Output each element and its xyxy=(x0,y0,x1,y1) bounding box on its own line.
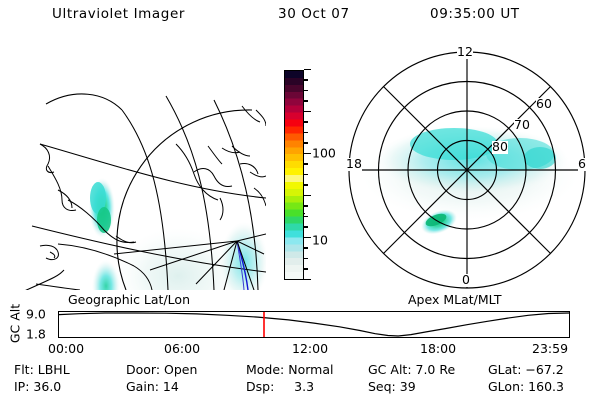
colorbar: photon cm-2s-1 10010 xyxy=(266,48,344,292)
polar-emission-layer xyxy=(362,126,578,239)
observation-date: 30 Oct 07 xyxy=(278,6,350,22)
colorbar-label-10: 10 xyxy=(312,233,328,248)
status-filter: Flt: LBHL xyxy=(14,362,70,377)
status-gain: Gain: 14 xyxy=(126,379,179,394)
colorbar-ticks xyxy=(304,70,312,280)
gc-alt-axis-label: GC Alt xyxy=(8,295,23,353)
mlt-spokes xyxy=(349,52,585,288)
orbit-plot-svg xyxy=(59,312,569,337)
observation-time: 09:35:00 UT xyxy=(430,6,520,22)
status-gc-alt: GC Alt: 7.0 Re xyxy=(368,362,455,377)
mlt-label-6: 6 xyxy=(578,158,586,171)
status-dsp: Dsp: 3.3 xyxy=(246,379,314,394)
geographic-map-svg xyxy=(18,48,266,290)
colorbar-gradient xyxy=(285,71,303,279)
uvi-summary-plot: Ultraviolet Imager 30 Oct 07 09:35:00 UT xyxy=(0,0,600,400)
status-block: Flt: LBHL Door: Open Mode: Normal GC Alt… xyxy=(0,362,600,400)
status-door: Door: Open xyxy=(126,362,197,377)
colorbar-label-100: 100 xyxy=(312,145,336,160)
mlt-label-12: 12 xyxy=(457,46,473,59)
apex-polar-svg xyxy=(344,48,594,292)
time-tick-0000: 00:00 xyxy=(48,341,84,356)
colorbar-gradient-box xyxy=(284,70,304,280)
mlat-label-70: 70 xyxy=(514,119,530,132)
orbit-altitude-panel: Geographic Lat/Lon Apex MLat/MLT GC Alt … xyxy=(0,292,600,354)
gc-alt-curve xyxy=(59,313,569,336)
time-tick-0600: 06:00 xyxy=(164,341,200,356)
status-glon: GLon: 160.3 xyxy=(488,379,564,394)
status-ip: IP: 36.0 xyxy=(14,379,61,394)
status-seq: Seq: 39 xyxy=(368,379,416,394)
time-tick-1800: 18:00 xyxy=(420,341,456,356)
apex-panel-caption: Apex MLat/MLT xyxy=(408,292,502,307)
time-tick-2359: 23:59 xyxy=(532,341,568,356)
orbit-plot-frame xyxy=(58,311,570,338)
mlat-label-60: 60 xyxy=(536,98,552,111)
gc-alt-tick-min: 1.8 xyxy=(26,327,46,342)
apex-polar-panel: 12 6 0 18 60 70 80 xyxy=(344,48,594,292)
time-tick-1200: 12:00 xyxy=(292,341,328,356)
header: Ultraviolet Imager 30 Oct 07 09:35:00 UT xyxy=(0,6,600,28)
mlt-label-0: 0 xyxy=(462,274,470,287)
instrument-title: Ultraviolet Imager xyxy=(52,6,185,22)
status-glat: GLat: −67.2 xyxy=(488,362,564,377)
gc-alt-tick-max: 9.0 xyxy=(26,307,46,322)
geographic-panel-caption: Geographic Lat/Lon xyxy=(68,292,190,307)
status-mode: Mode: Normal xyxy=(246,362,333,377)
mlat-label-80: 80 xyxy=(492,141,508,154)
mlt-label-18: 18 xyxy=(346,158,362,171)
geographic-map-panel xyxy=(18,48,266,290)
